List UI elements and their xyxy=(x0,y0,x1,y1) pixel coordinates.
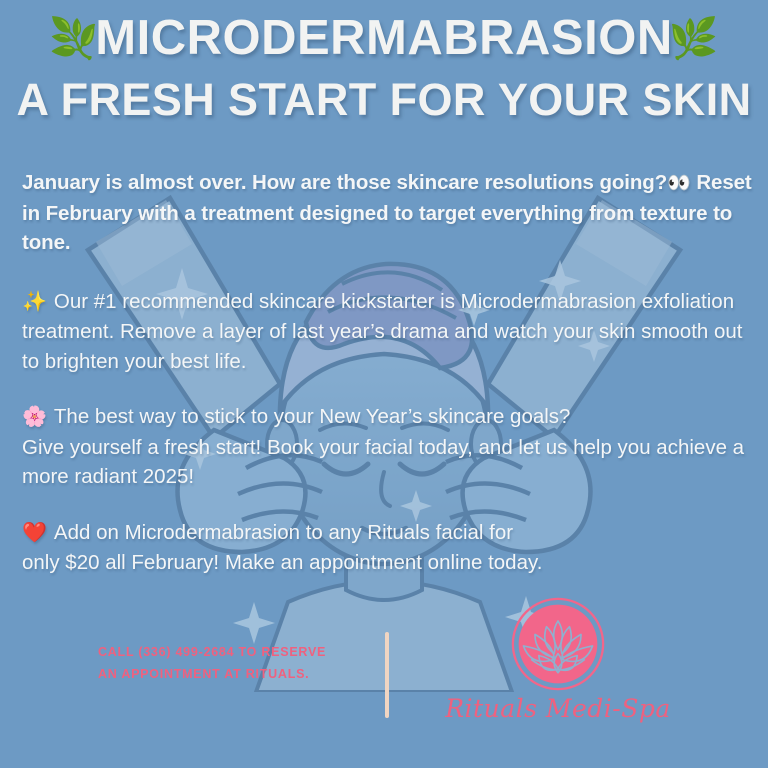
paragraph-goals-extra: Give yourself a fresh start! Book your f… xyxy=(22,436,744,489)
paragraph-kickstarter: ✨Our #1 recommended skincare kickstarter… xyxy=(22,287,752,377)
lotus-emblem-icon xyxy=(510,596,606,692)
cta-line-1: CALL (336) 499-2684 TO RESERVE xyxy=(98,641,358,663)
paragraph-lead: January is almost over. How are those sk… xyxy=(22,168,752,258)
brand-wordmark: Rituals Medi-Spa xyxy=(443,694,673,723)
paragraph-kickstarter-text: Our #1 recommended skincare kickstarter … xyxy=(22,290,743,373)
paragraph-goals-text: The best way to stick to your New Year’s… xyxy=(54,405,571,428)
page-subtitle: A FRESH START FOR YOUR SKIN xyxy=(0,74,768,126)
heart-icon: ❤️ xyxy=(22,522,47,544)
call-to-action-text: CALL (336) 499-2684 TO RESERVE AN APPOIN… xyxy=(98,641,358,685)
sparkles-icon: ✨ xyxy=(22,291,47,313)
herb-leaf-icon-right: 🌿 xyxy=(669,19,719,59)
paragraph-lead-text: January is almost over. How are those sk… xyxy=(22,171,667,194)
promo-poster: 🌿 MICRODERMABRASION 🌿 A FRESH START FOR … xyxy=(0,0,768,768)
paragraph-offer: ❤️Add on Microdermabrasion to any Ritual… xyxy=(22,518,752,578)
poster-header: 🌿 MICRODERMABRASION 🌿 A FRESH START FOR … xyxy=(0,0,768,140)
body-copy: January is almost over. How are those sk… xyxy=(22,168,752,604)
title-main-row: 🌿 MICRODERMABRASION 🌿 xyxy=(0,14,768,63)
poster-footer: CALL (336) 499-2684 TO RESERVE AN APPOIN… xyxy=(0,618,768,768)
cherry-blossom-icon: 🌸 xyxy=(22,406,47,428)
herb-leaf-icon-left: 🌿 xyxy=(49,19,99,59)
paragraph-offer-extra: only $20 all February! Make an appointme… xyxy=(22,551,542,574)
cta-line-2: AN APPOINTMENT AT RITUALS. xyxy=(98,663,358,685)
footer-divider xyxy=(385,632,389,718)
paragraph-offer-text: Add on Microdermabrasion to any Rituals … xyxy=(54,521,513,544)
brand-logo: Rituals Medi-Spa xyxy=(443,596,673,723)
eyes-icon: 👀 xyxy=(667,173,691,194)
paragraph-goals: 🌸The best way to stick to your New Year’… xyxy=(22,402,752,492)
page-title: MICRODERMABRASION xyxy=(95,14,672,63)
